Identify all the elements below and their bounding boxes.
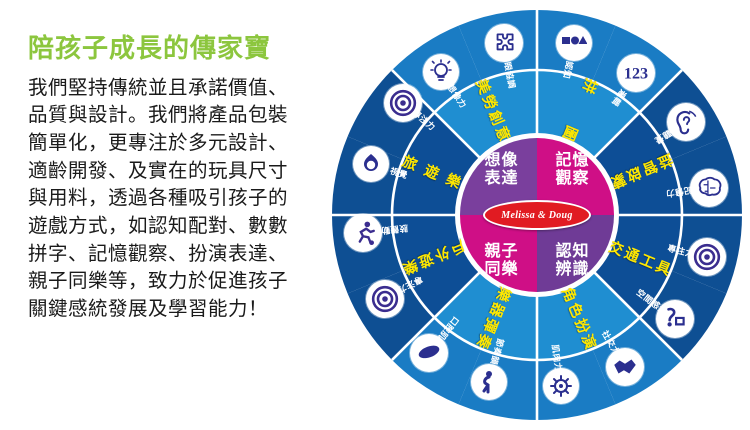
paragraph-line: 我們堅持傳統並且承諾價值、 (28, 75, 356, 103)
target-icon (384, 84, 422, 122)
paragraph-line: 親子同樂等，致力於促進孩子 (28, 268, 356, 296)
svg-text:123: 123 (624, 66, 648, 83)
hub-line: 辨識 (555, 261, 589, 279)
lightbulb-icon (423, 54, 459, 90)
ear-icon (667, 103, 705, 141)
dancer-icon (471, 364, 507, 400)
target-icon (366, 280, 404, 318)
intro-paragraph: 我們堅持傳統並且承諾價值、 品質與設計。我們將產品包裝 簡單化，更專注於多元設計… (28, 75, 356, 324)
page-title: 陪孩子成長的傳家寶 (28, 34, 356, 63)
intro-text-panel: 陪孩子成長的傳家寶 我們堅持傳統並且承諾價值、 品質與設計。我們將產品包裝 簡單… (26, 34, 356, 404)
paragraph-line: 與用料，透過各種吸引孩子的 (28, 185, 356, 213)
hub-line: 認知 (555, 243, 589, 261)
capability-wheel: 美勞創意 拼 圖 益智啟蒙 交通工具 角色扮演 樂器彈奏 戶外遊樂 旅 遊 樂 … (330, 8, 744, 422)
mouth-icon (410, 334, 448, 372)
hub-line: 觀察 (555, 170, 589, 188)
target-icon (688, 238, 726, 276)
hub-line: 表達 (484, 170, 518, 188)
hub-line: 同樂 (484, 261, 518, 279)
shapes-icon (556, 25, 592, 61)
handshake-icon (606, 348, 644, 386)
hub-line: 記憶 (555, 152, 589, 170)
numbers-123-icon: 123 (617, 54, 655, 92)
hub-line: 想像 (484, 152, 518, 170)
hub-line: 親子 (484, 243, 518, 261)
brain-icon (690, 169, 728, 207)
puzzle-piece-icon (485, 24, 523, 62)
gear-child-icon (543, 368, 579, 404)
paragraph-line: 關鍵感統發展及學習能力！ (28, 296, 356, 324)
wheel-hub: 想像 表達 記憶 觀察 親子 同樂 認知 辨識 Melissa & Doug (457, 135, 617, 295)
paragraph-line: 品質與設計。我們將產品包裝 (28, 102, 356, 130)
brand-logo: Melissa & Doug (483, 200, 591, 230)
map-pin-icon (656, 300, 694, 338)
paragraph-line: 拼字、記憶觀察、扮演表達、 (28, 241, 356, 269)
paragraph-line: 適齡開發、及實在的玩具尺寸 (28, 158, 356, 186)
runner-icon (344, 214, 382, 252)
paragraph-line: 遊戲方式，如認知配對、數數 (28, 213, 356, 241)
eye-icon (353, 146, 389, 182)
paragraph-line: 簡單化，更專注於多元設計、 (28, 130, 356, 158)
